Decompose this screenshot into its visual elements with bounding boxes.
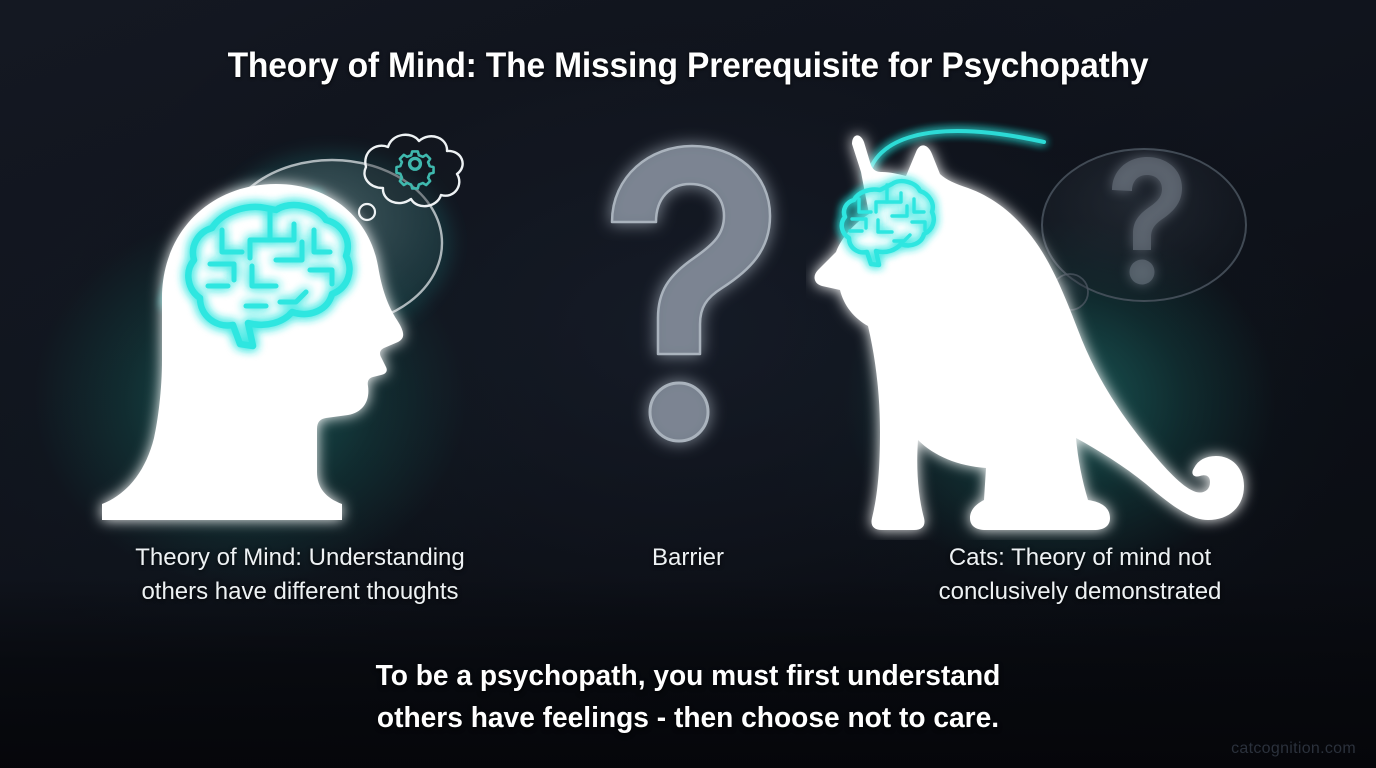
caption-human-line1: Theory of Mind: Understanding bbox=[60, 541, 540, 575]
watermark: catcognition.com bbox=[1231, 740, 1356, 758]
tagline-line2: others have feelings - then choose not t… bbox=[21, 697, 1356, 739]
question-mark-icon bbox=[612, 146, 770, 441]
panel-barrier bbox=[570, 120, 806, 540]
human-theory-of-mind-illustration bbox=[70, 120, 570, 540]
infographic-canvas: Theory of Mind: The Missing Prerequisite… bbox=[0, 0, 1376, 768]
caption-cat-line1: Cats: Theory of mind not bbox=[840, 541, 1320, 575]
tagline: To be a psychopath, you must first under… bbox=[21, 655, 1356, 739]
human-head-silhouette bbox=[102, 184, 403, 520]
panel-human bbox=[70, 120, 570, 540]
barrier-question-mark-illustration bbox=[570, 120, 806, 540]
panel-cat bbox=[806, 120, 1306, 540]
caption-cat: Cats: Theory of mind not conclusively de… bbox=[840, 541, 1320, 609]
brain-to-bubble-connector bbox=[868, 131, 1044, 178]
page-title: Theory of Mind: The Missing Prerequisite… bbox=[28, 46, 1349, 86]
caption-barrier: Barrier bbox=[570, 541, 806, 575]
tagline-line1: To be a psychopath, you must first under… bbox=[21, 655, 1356, 697]
caption-cat-line2: conclusively demonstrated bbox=[840, 575, 1320, 609]
cat-theory-of-mind-illustration bbox=[806, 120, 1306, 540]
caption-barrier-line1: Barrier bbox=[570, 541, 806, 575]
caption-human: Theory of Mind: Understanding others hav… bbox=[60, 541, 540, 609]
caption-human-line2: others have different thoughts bbox=[60, 575, 540, 609]
